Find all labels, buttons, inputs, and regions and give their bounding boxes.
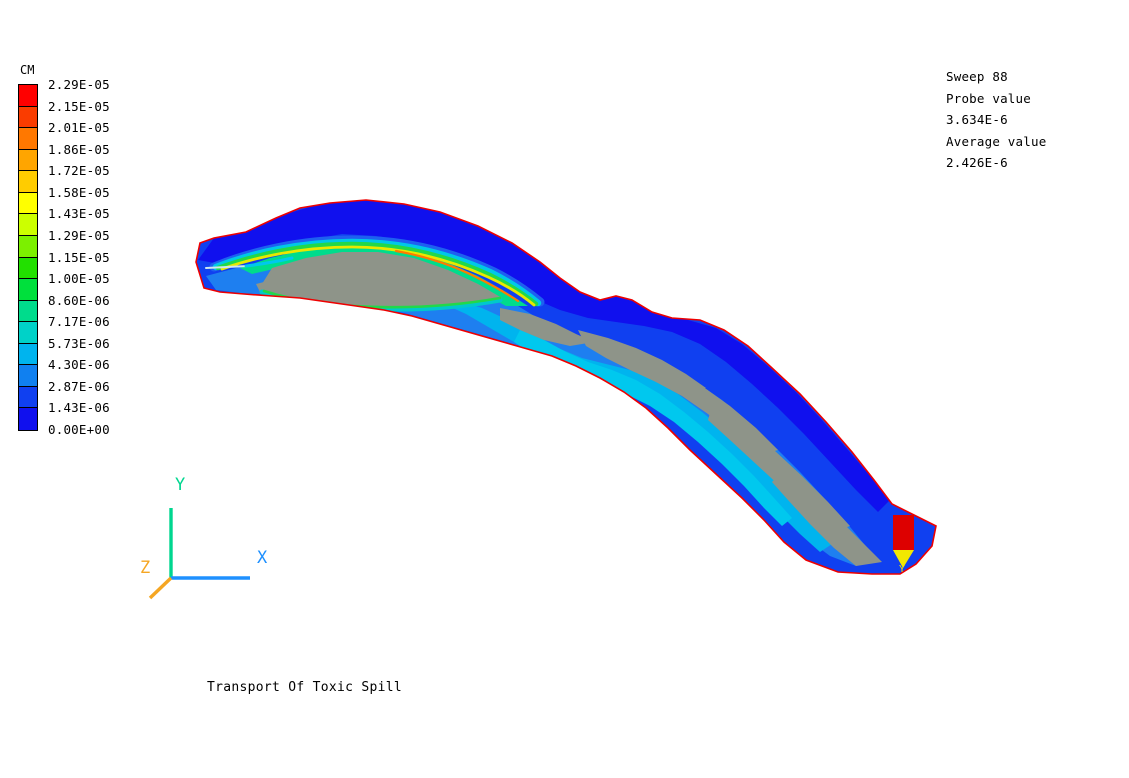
colorbar-swatch-10 [19,301,37,323]
colorbar-swatch-13 [19,365,37,387]
probe-marker-box[interactable] [893,515,914,550]
visualization-canvas: Y CM 2.29E-052.15E-052.01E-051.86E-051.7… [0,0,1129,778]
colorbar-label-8: 1.15E-05 [48,252,110,264]
colorbar-label-15: 1.43E-06 [48,402,110,414]
colorbar-label-9: 1.00E-05 [48,273,110,285]
y-axis-label: Y [175,477,185,494]
colorbar-label-1: 2.15E-05 [48,101,110,113]
colorbar-swatch-5 [19,193,37,215]
colorbar-label-10: 8.60E-06 [48,295,110,307]
x-axis-label: X [257,550,267,567]
colorbar-swatch-0 [19,85,37,107]
z-axis-label: Z [140,560,150,577]
probe-marker-label: Y [899,564,905,575]
colorbar-swatch-6 [19,214,37,236]
colorbar-label-7: 1.29E-05 [48,230,110,242]
colorbar-label-2: 2.01E-05 [48,122,110,134]
colorbar-swatch-4 [19,171,37,193]
colorbar-swatch-3 [19,150,37,172]
colorbar-label-11: 7.17E-06 [48,316,110,328]
colorbar: CM 2.29E-052.15E-052.01E-051.86E-051.72E… [18,64,134,431]
colorbar-body: 2.29E-052.15E-052.01E-051.86E-051.72E-05… [18,84,134,431]
colorbar-swatch-12 [19,344,37,366]
colorbar-label-14: 2.87E-06 [48,381,110,393]
z-axis-line [150,578,171,598]
colorbar-label-12: 5.73E-06 [48,338,110,350]
colorbar-swatches [18,84,38,431]
colorbar-label-5: 1.58E-05 [48,187,110,199]
colorbar-swatch-14 [19,387,37,409]
colorbar-label-4: 1.72E-05 [48,165,110,177]
average-value: 2.426E-6 [946,152,1126,174]
colorbar-swatch-9 [19,279,37,301]
colorbar-label-3: 1.86E-05 [48,144,110,156]
axis-triad: Y X Z [132,470,302,600]
colorbar-label-6: 1.43E-05 [48,208,110,220]
colorbar-swatch-15 [19,408,37,430]
colorbar-swatch-11 [19,322,37,344]
colorbar-swatch-7 [19,236,37,258]
axis-triad-svg [132,470,302,600]
colorbar-swatch-8 [19,258,37,280]
info-panel: Sweep 88 Probe value 3.634E-6 Average va… [946,66,1126,174]
sweep-label: Sweep 88 [946,66,1126,88]
colorbar-label-13: 4.30E-06 [48,359,110,371]
page-title: Transport Of Toxic Spill [207,680,402,695]
probe-value-caption: Probe value [946,88,1126,110]
colorbar-labels: 2.29E-052.15E-052.01E-051.86E-051.72E-05… [48,84,134,430]
colorbar-title: CM [20,64,134,76]
colorbar-label-0: 2.29E-05 [48,79,110,91]
probe-value: 3.634E-6 [946,109,1126,131]
colorbar-label-16: 0.00E+00 [48,424,110,436]
average-value-caption: Average value [946,131,1126,153]
colorbar-swatch-2 [19,128,37,150]
colorbar-swatch-1 [19,107,37,129]
